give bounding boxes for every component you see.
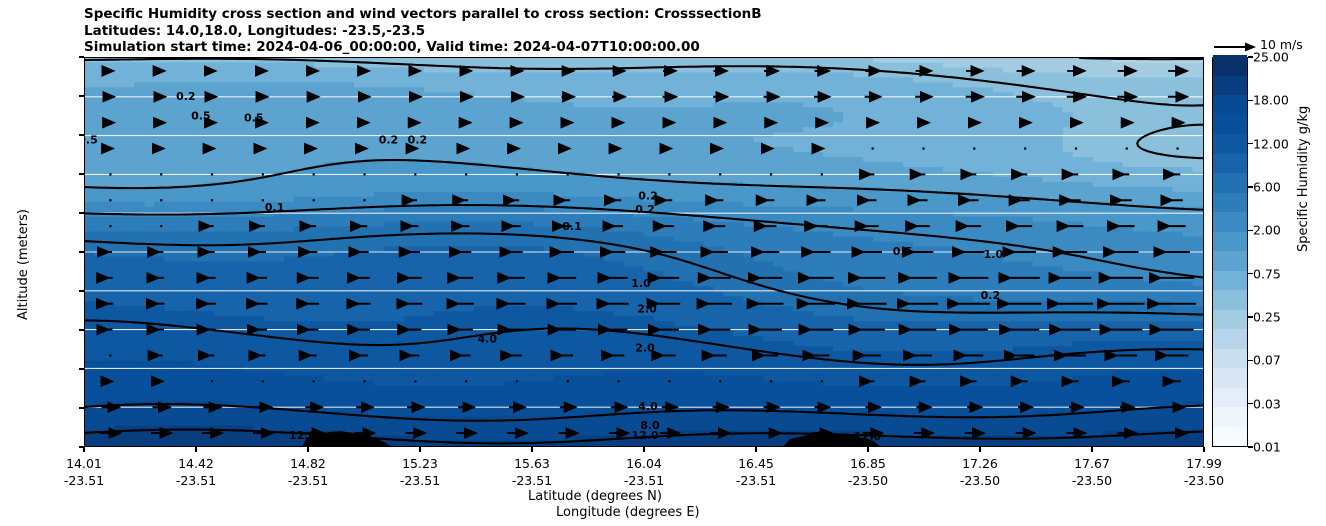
title-line-2: Latitudes: 14.0,18.0, Longitudes: -23.5,… [84,23,1204,40]
cross-section-plot[interactable]: 0.20.50.50.50.20.20.10.20.20.10.51.00.21… [84,57,1204,447]
chart-title-block: Specific Humidity cross section and wind… [84,6,1204,56]
title-line-1: Specific Humidity cross section and wind… [84,6,1204,23]
title-line-3: Simulation start time: 2024-04-06_00:00:… [84,39,1204,56]
plot-canvas: 0.20.50.50.50.20.20.10.20.20.10.51.00.21… [85,58,1203,446]
arrow-right-icon [1212,38,1258,56]
